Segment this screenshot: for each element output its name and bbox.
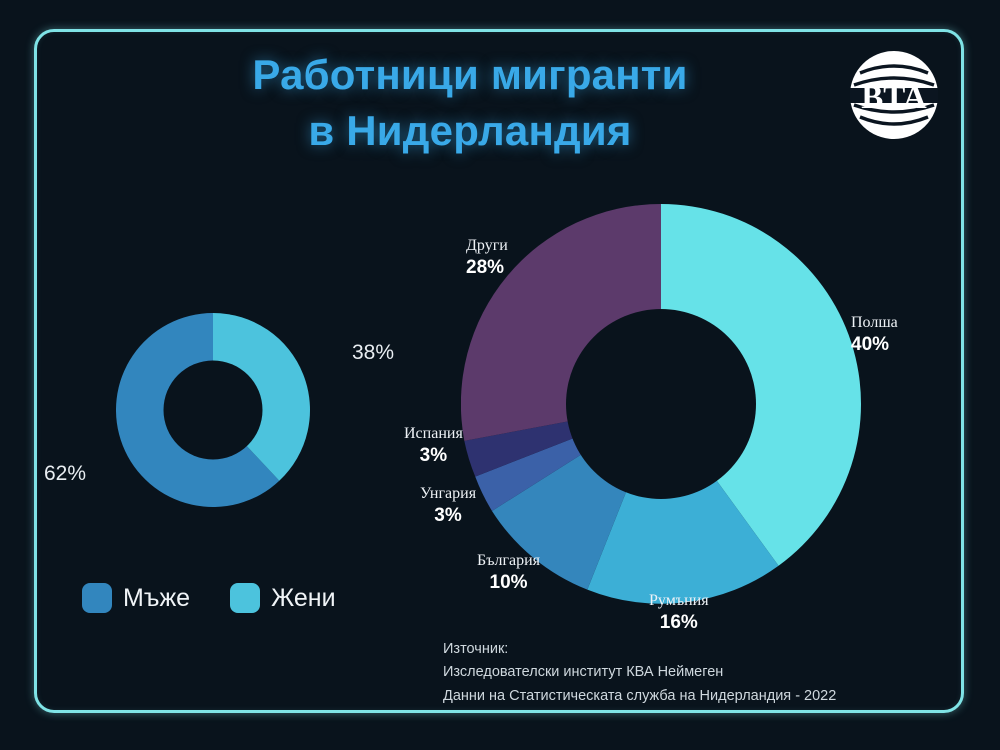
callout-romania-value: 16% — [649, 611, 709, 635]
source-line-2: Изследователски институт КВА Неймеген — [443, 661, 836, 684]
logo-text: BTA — [861, 80, 927, 116]
callout-other: Други 28% — [466, 236, 518, 280]
callout-romania: Румъния 16% — [649, 591, 709, 635]
callout-spain-label: Испания — [404, 424, 463, 444]
source-line-1: Източник: — [443, 638, 836, 661]
callout-other-label: Други — [466, 236, 518, 256]
legend-label-men: Мъже — [123, 586, 190, 611]
callout-bulgaria-value: 10% — [477, 571, 540, 595]
callout-bulgaria-label: България — [477, 551, 540, 571]
legend-item-men: Мъже — [82, 583, 190, 613]
donut-hole — [164, 361, 263, 460]
callout-poland: Полша 40% — [851, 313, 905, 357]
callout-spain: Испания 3% — [404, 424, 463, 468]
callout-romania-label: Румъния — [649, 591, 709, 611]
callout-other-value: 28% — [466, 256, 518, 280]
donut-hole — [566, 309, 756, 499]
callout-hungary: Унгария 3% — [420, 484, 476, 528]
callout-hungary-label: Унгария — [420, 484, 476, 504]
page-title: Работници мигранти в Нидерландия — [120, 47, 820, 159]
gender-donut-chart — [116, 313, 310, 507]
nationality-donut-chart — [461, 204, 861, 604]
bta-logo-icon: BTA — [846, 47, 942, 143]
callout-poland-value: 40% — [851, 333, 905, 357]
infographic-canvas: Работници мигранти в Нидерландия BTA 38%… — [0, 0, 1000, 750]
title-line-1: Работници мигранти — [120, 47, 820, 103]
callout-hungary-value: 3% — [420, 504, 476, 528]
callout-spain-value: 3% — [404, 444, 463, 468]
source-attribution: Източник: Изследователски институт КВА Н… — [443, 638, 836, 708]
gender-label-women-percent: 38% — [352, 341, 394, 365]
callout-poland-label: Полша — [851, 313, 905, 333]
gender-chart-legend: Мъже Жени — [82, 583, 336, 613]
legend-swatch-women — [230, 583, 260, 613]
legend-swatch-men — [82, 583, 112, 613]
legend-label-women: Жени — [271, 586, 335, 611]
callout-bulgaria: България 10% — [477, 551, 540, 595]
source-line-3: Данни на Статистическата служба на Нидер… — [443, 685, 836, 708]
legend-item-women: Жени — [230, 583, 335, 613]
title-line-2: в Нидерландия — [120, 103, 820, 159]
gender-label-men-percent: 62% — [44, 462, 86, 486]
